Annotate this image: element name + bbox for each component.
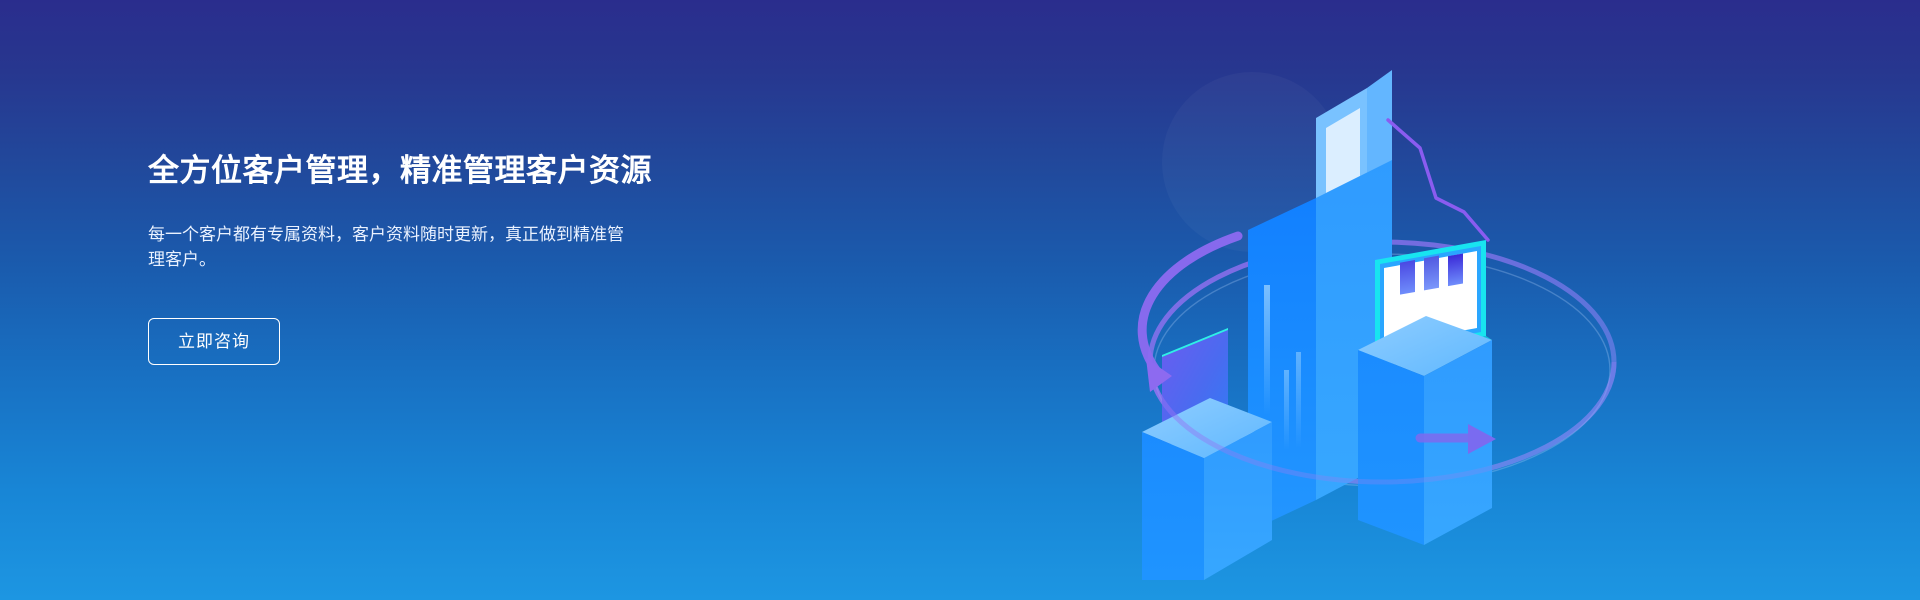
page-title: 全方位客户管理，精准管理客户资源 <box>148 150 768 192</box>
trend-polyline <box>1388 120 1488 240</box>
consult-now-button[interactable]: 立即咨询 <box>148 318 280 365</box>
hero-banner: 全方位客户管理，精准管理客户资源 每一个客户都有专属资料，客户资料随时更新，真正… <box>0 0 1920 600</box>
hero-subtitle: 每一个客户都有专属资料，客户资料随时更新，真正做到精准管理客户。 <box>148 192 630 272</box>
pillar-right <box>1358 226 1492 545</box>
hero-copy-block: 全方位客户管理，精准管理客户资源 每一个客户都有专属资料，客户资料随时更新，真正… <box>148 150 768 365</box>
isometric-illustration-svg <box>1120 40 1680 580</box>
hero-illustration <box>1120 40 1680 580</box>
pillar-left-front <box>1142 432 1204 580</box>
pillar-right-front <box>1358 350 1424 545</box>
